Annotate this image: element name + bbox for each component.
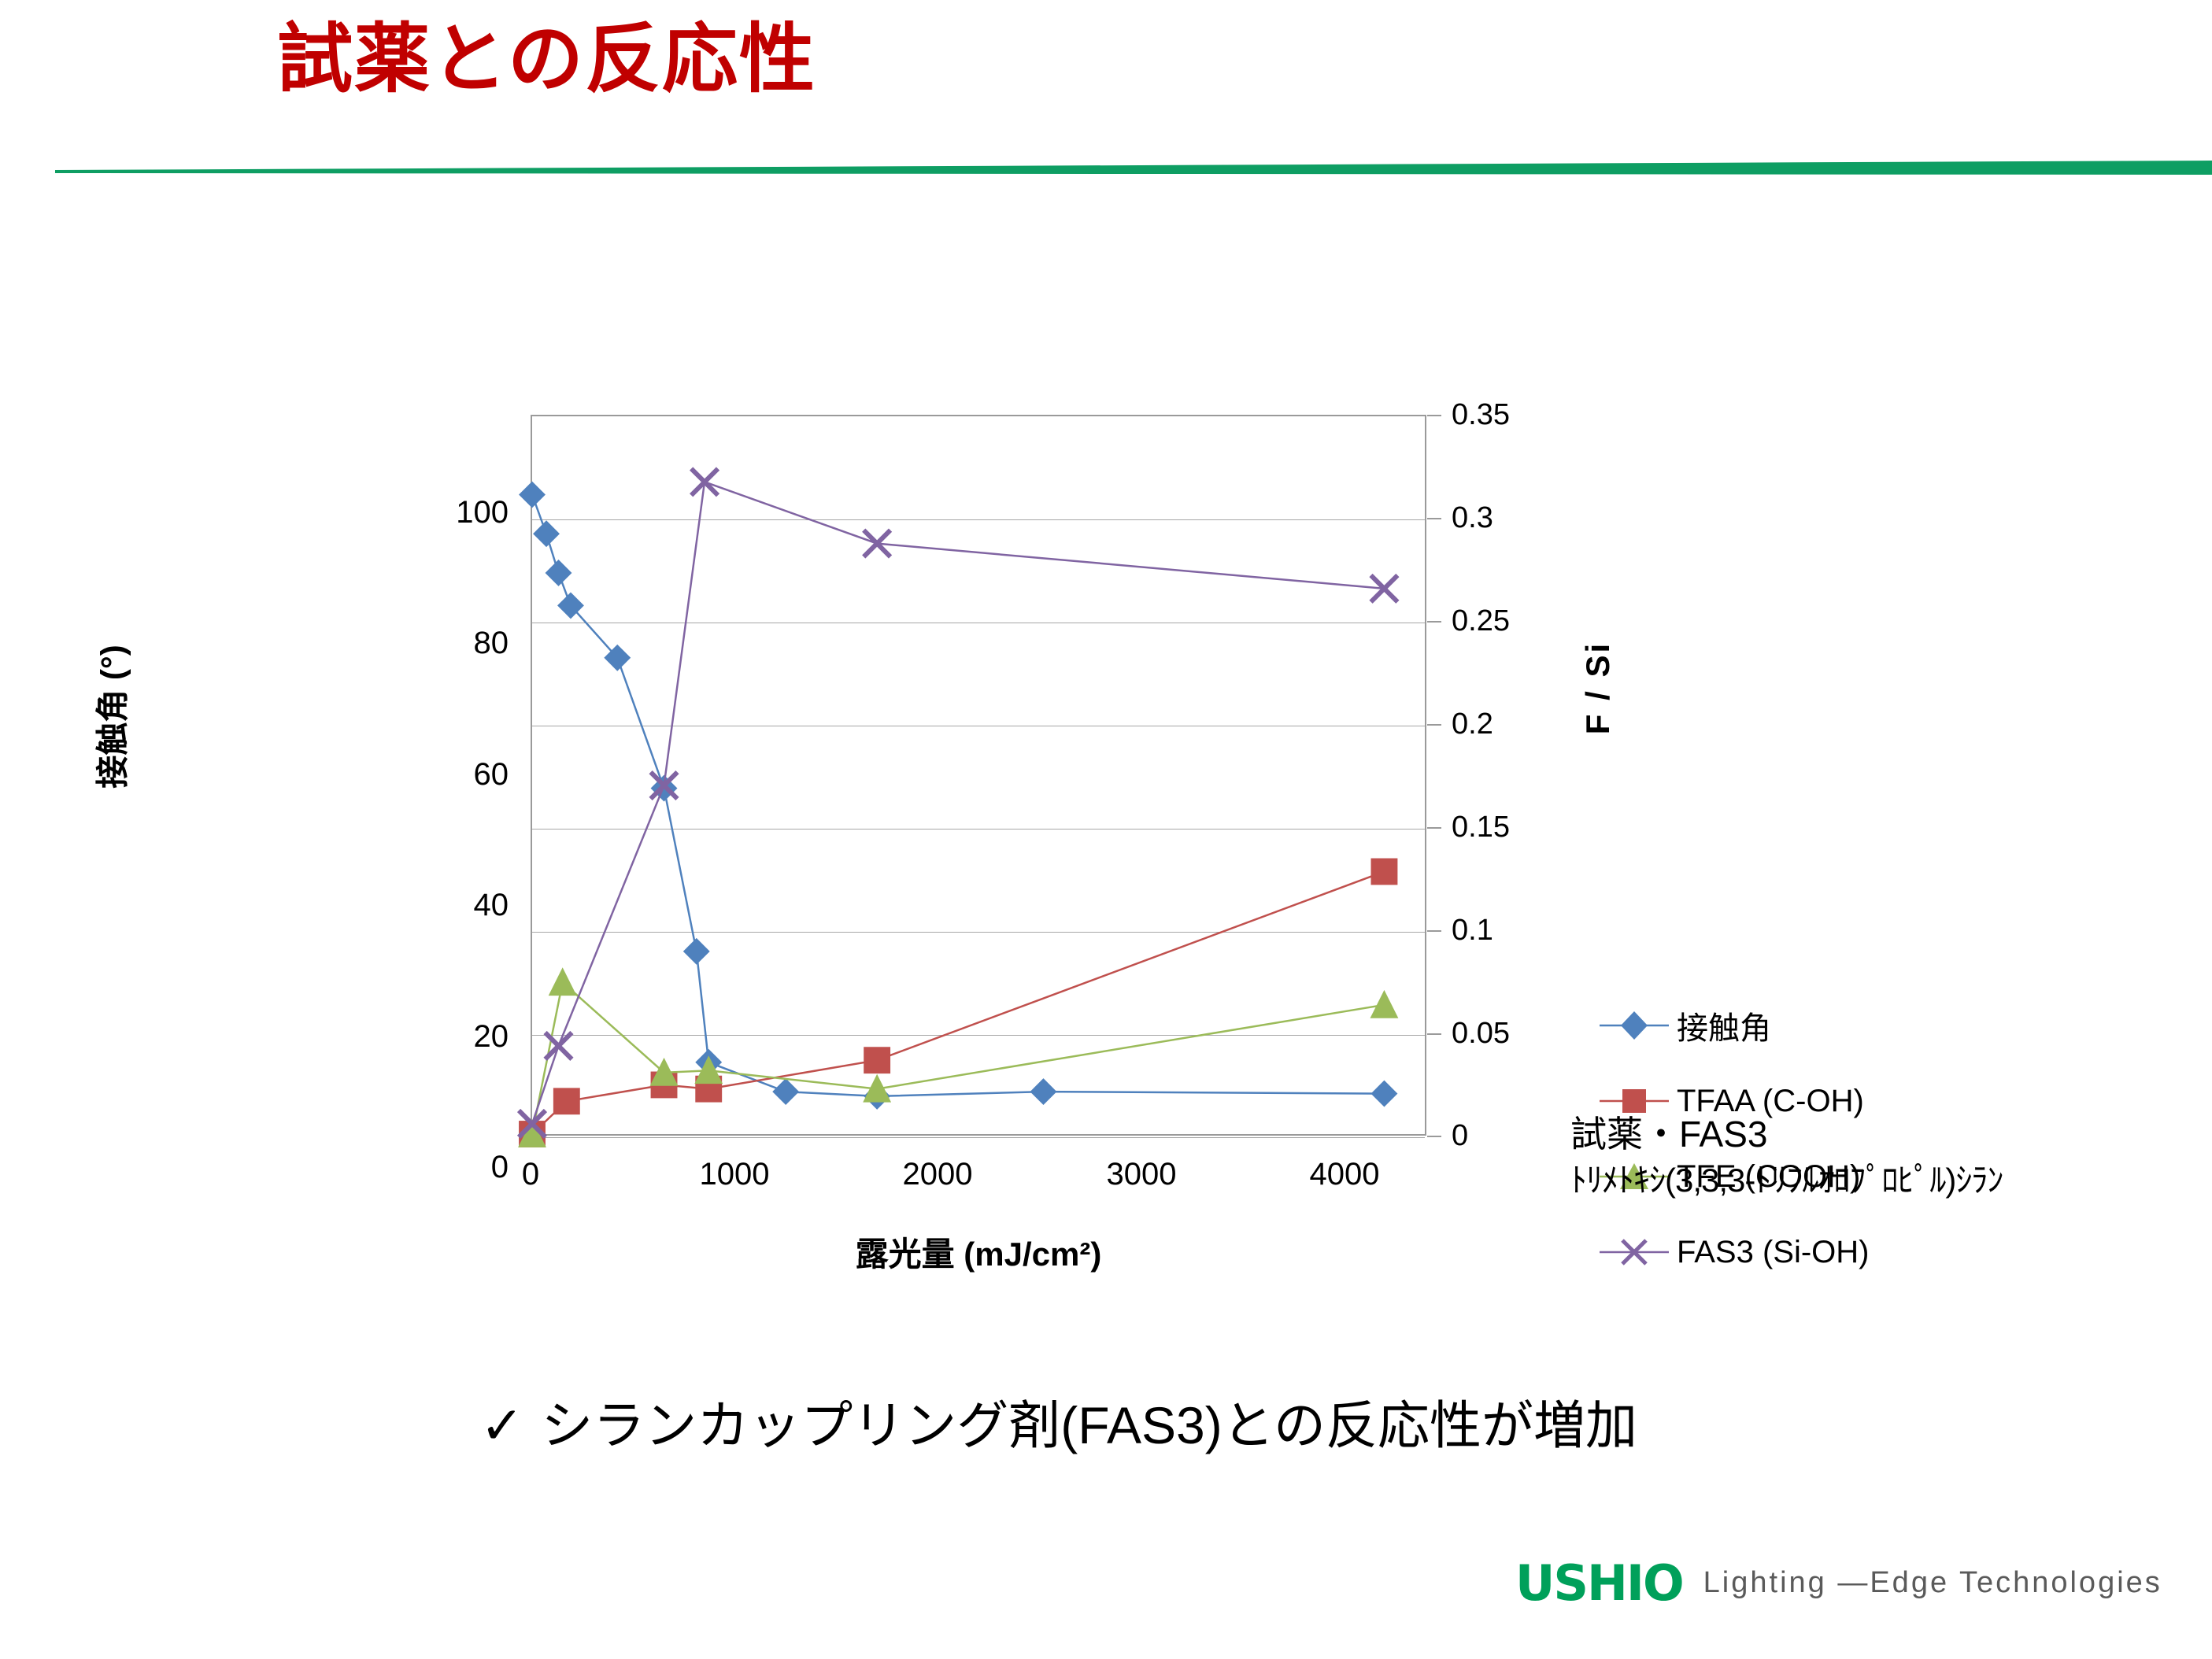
y-tick-right-0: 0 — [1452, 1119, 1570, 1153]
y-tick-mark-right — [1427, 1033, 1441, 1035]
legend-label: FAS3 (Si-OH) — [1670, 1235, 1869, 1270]
data-point-diamond — [772, 1078, 799, 1105]
y-tick-mark-right — [1427, 827, 1441, 829]
x-tick-3000: 3000 — [1071, 1157, 1212, 1192]
plot-area — [531, 415, 1426, 1136]
title-divider — [0, 154, 2212, 181]
legend-label: 接触角 — [1670, 1003, 1771, 1048]
conclusion-bullet: ✓シランカップリング剤(FAS3)との反応性が増加 — [480, 1384, 1637, 1459]
y-tick-mark-right — [1427, 518, 1441, 519]
page-title: 試薬との反応性 — [277, 22, 816, 98]
reagent-note: 試薬・FAS3 ﾄﾘﾒﾄｷｼ(3,3,3-ﾄﾘﾌﾙｵﾛﾌﾟﾛﾋﾟﾙ)ｼﾗﾝ — [1570, 1110, 2003, 1203]
y-tick-right-025: 0.25 — [1452, 604, 1570, 638]
series-line-TFE (COOH) — [532, 982, 1384, 1134]
footer-logo: USHIO Lighting —Edge Technologies — [1515, 1554, 2162, 1612]
y-axis-left-title: 接触角 (°) — [87, 560, 135, 874]
y-axis-right-title: F / Si — [1579, 530, 1617, 845]
y-tick-right-015: 0.15 — [1452, 811, 1570, 844]
y-tick-left-20: 20 — [422, 1019, 509, 1055]
data-point-triangle — [549, 967, 577, 996]
data-point-diamond — [519, 482, 546, 508]
data-point-diamond — [1371, 1081, 1398, 1107]
y-tick-mark-right — [1427, 1136, 1441, 1137]
check-icon: ✓ — [480, 1396, 541, 1454]
y-tick-left-100: 100 — [422, 495, 509, 530]
footer-tagline: Lighting —Edge Technologies — [1683, 1566, 2162, 1600]
y-tick-right-035: 0.35 — [1452, 398, 1570, 432]
gridline — [532, 1137, 1425, 1138]
data-point-diamond — [533, 520, 560, 547]
legend-item-contact-angle[interactable]: 接触角 — [1598, 988, 1992, 1063]
x-tick-1000: 1000 — [664, 1157, 805, 1192]
x-axis-title: 露光量 (mJ/cm²) — [531, 1228, 1426, 1276]
series-plot — [532, 416, 1425, 1134]
y-tick-left-40: 40 — [422, 888, 509, 923]
conclusion-text: シランカップリング剤(FAS3)との反応性が増加 — [541, 1396, 1637, 1454]
y-tick-mark-right — [1427, 621, 1441, 623]
reactivity-chart: 接触角 (°) F / Si 露光量 (mJ/cm²) 100 80 60 40… — [0, 354, 1653, 1220]
y-tick-right-02: 0.2 — [1452, 708, 1570, 741]
y-tick-mark-right — [1427, 930, 1441, 932]
data-point-diamond — [1030, 1078, 1057, 1105]
y-tick-right-005: 0.05 — [1452, 1017, 1570, 1051]
ushio-logo: USHIO — [1515, 1554, 1683, 1612]
reagent-note-line1: 試薬・FAS3 — [1570, 1110, 2003, 1158]
data-point-square — [553, 1088, 580, 1114]
y-tick-right-01: 0.1 — [1452, 914, 1570, 948]
y-tick-mark-right — [1427, 415, 1441, 416]
x-tick-4000: 4000 — [1274, 1157, 1415, 1192]
x-tick-2000: 2000 — [867, 1157, 1008, 1192]
legend-item-fas3[interactable]: FAS3 (Si-OH) — [1598, 1214, 1992, 1290]
series-line-FAS3 (Si-OH) — [532, 482, 1384, 1124]
diamond-marker-icon — [1598, 1008, 1670, 1043]
data-point-triangle — [1370, 990, 1399, 1018]
x-marker-icon — [1598, 1235, 1670, 1269]
y-tick-left-60: 60 — [422, 757, 509, 793]
data-point-square — [864, 1047, 890, 1073]
y-tick-right-03: 0.3 — [1452, 501, 1570, 535]
x-tick-0: 0 — [460, 1157, 601, 1192]
data-point-x — [691, 468, 718, 495]
y-tick-mark-right — [1427, 724, 1441, 726]
data-point-diamond — [683, 938, 710, 965]
data-point-diamond — [546, 560, 572, 586]
reagent-note-line2: ﾄﾘﾒﾄｷｼ(3,3,3-ﾄﾘﾌﾙｵﾛﾌﾟﾛﾋﾟﾙ)ｼﾗﾝ — [1570, 1158, 2003, 1203]
y-tick-left-80: 80 — [422, 626, 509, 661]
data-point-square — [1371, 859, 1398, 885]
